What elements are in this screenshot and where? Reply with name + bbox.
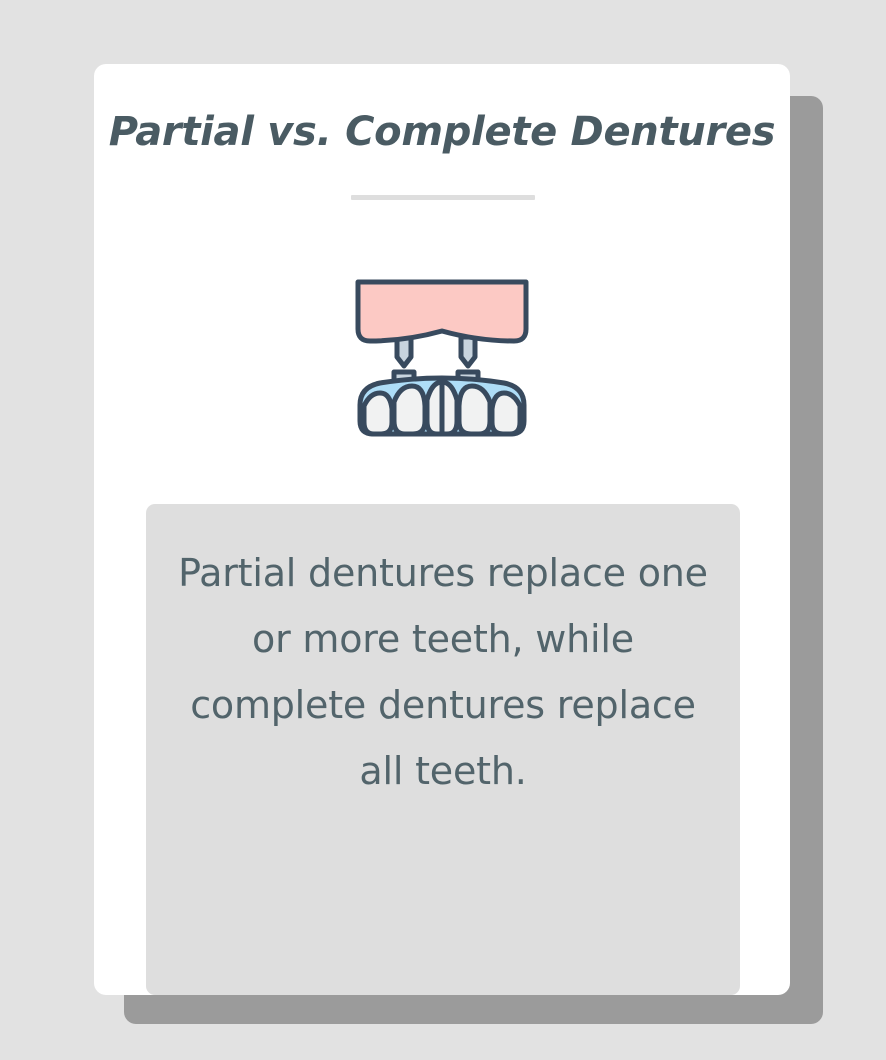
tooth-6-icon [492, 393, 520, 434]
content-card: Partial vs. Complete Dentures [94, 64, 790, 995]
denture-illustration [350, 269, 534, 439]
tooth-1-icon [364, 393, 392, 434]
slide-stage: Partial vs. Complete Dentures [0, 0, 886, 1060]
page-title: Partial vs. Complete Dentures [94, 108, 790, 156]
tooth-4-icon [442, 382, 457, 434]
description-panel: Partial dentures replace one or more tee… [146, 504, 740, 995]
tooth-5-icon [459, 386, 490, 434]
denture-plate-icon [358, 282, 526, 341]
tooth-2-icon [394, 386, 425, 434]
title-divider [351, 195, 535, 200]
description-text: Partial dentures replace one or more tee… [172, 540, 714, 804]
clasp-post-right-icon [461, 337, 475, 366]
denture-illustration-svg [350, 269, 534, 439]
